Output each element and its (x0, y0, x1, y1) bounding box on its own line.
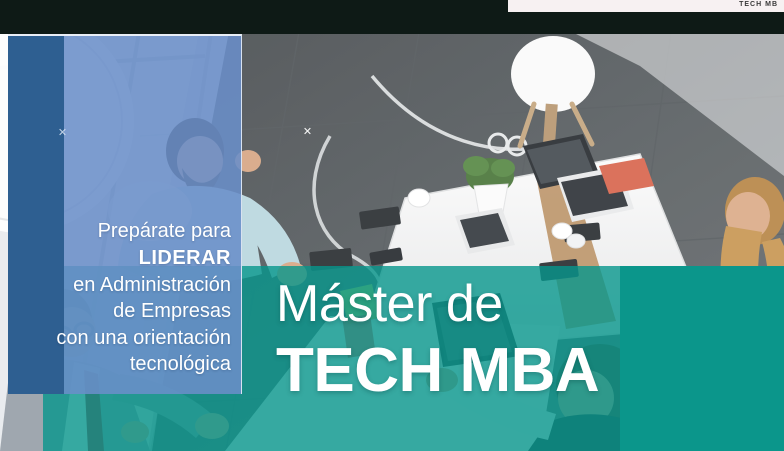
promo-line-3: en Administración (8, 272, 231, 299)
top-chrome-tab[interactable]: TECH MB (508, 0, 784, 12)
promo-line-4: de Empresas (8, 298, 231, 325)
headline-line-1: Máster de (276, 278, 599, 330)
top-chrome-tab-label: TECH MB (739, 1, 778, 8)
close-marker-center-icon[interactable]: ✕ (302, 127, 313, 138)
promo-line-6: tecnológica (8, 351, 231, 378)
ad-banner-stage: Prepárate para LIDERAR en Administración… (0, 0, 784, 451)
teal-overlay-solid-right (620, 266, 784, 451)
headline-block: Máster de TECH MBA (276, 278, 599, 403)
promo-line-1: Prepárate para (8, 218, 231, 245)
promo-line-2: LIDERAR (8, 245, 231, 272)
promo-card[interactable]: Prepárate para LIDERAR en Administración… (8, 34, 242, 394)
close-marker-left-icon[interactable]: ✕ (57, 128, 68, 139)
headline-line-2: TECH MBA (276, 338, 599, 403)
promo-line-5: con una orientación (8, 325, 231, 352)
promo-card-text: Prepárate para LIDERAR en Administración… (8, 218, 231, 378)
